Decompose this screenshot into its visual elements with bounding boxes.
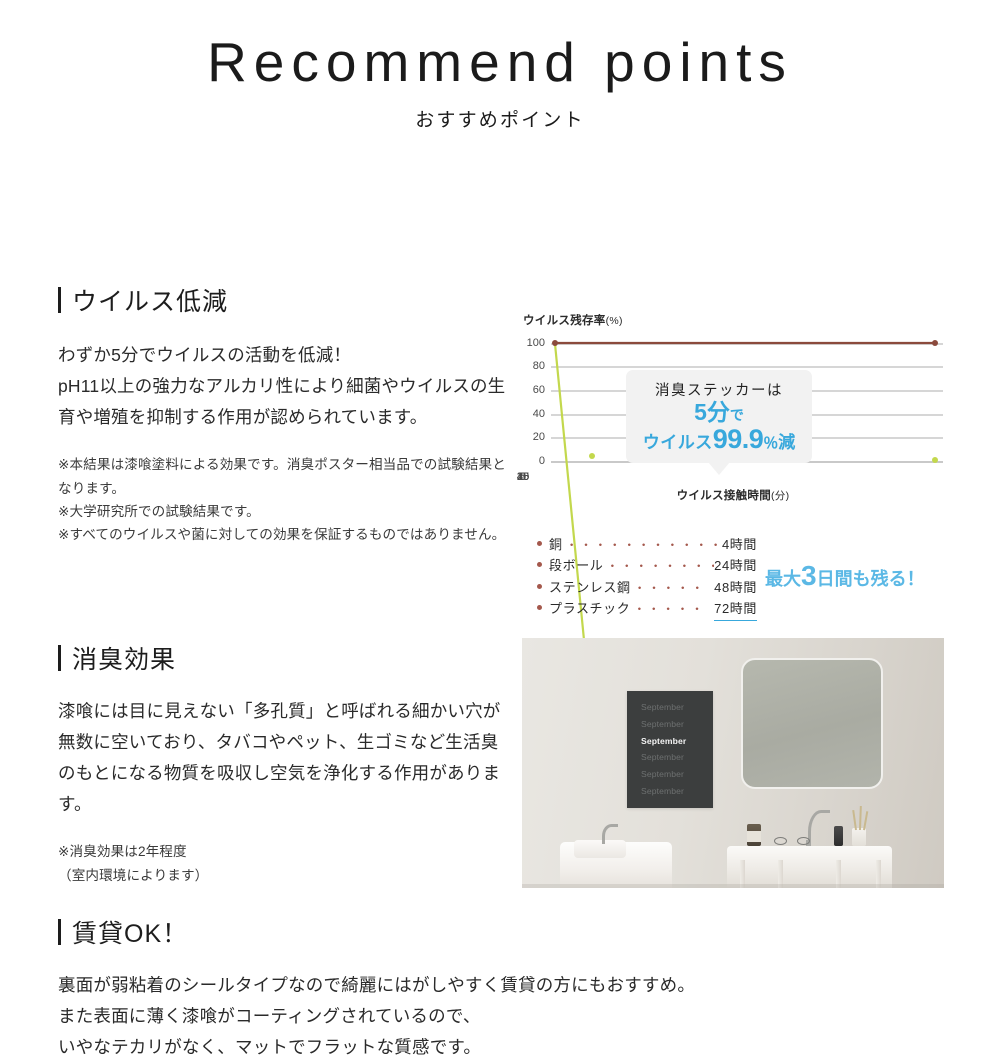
section-heading-rental-ok: 賃貸OK！ (58, 914, 938, 950)
section-heading-virus-reduction: ウイルス低減 (58, 282, 513, 318)
ytick-60: 60 (521, 384, 545, 396)
callout-line-2: 5分で (636, 401, 802, 424)
section-virus-reduction: ウイルス低減 わずか5分でウイルスの活動を低減！ pH11以上の強力なアルカリ性… (58, 282, 513, 547)
photo-toilet-basin (574, 840, 626, 858)
photo-bottle-dark (834, 826, 843, 846)
chart-y-axis-label-text: ウイルス残存率 (523, 315, 606, 327)
chart-callout-bubble: 消臭ステッカーは 5分で ウイルス99.9％減 (626, 370, 812, 463)
legend-item: プラスチック ・・・・・ 72時間 (537, 598, 757, 621)
callout-line-1: 消臭ステッカーは (636, 379, 802, 400)
section-rental-ok: 賃貸OK！ 裏面が弱粘着のシールタイプなので綺麗にはがしやすく賃貸の方にもおすす… (58, 914, 938, 1063)
callout-virus-label: ウイルス (643, 433, 713, 452)
photo-september-poster: September September September September … (627, 691, 713, 808)
note-item: ※大学研究所での試験結果です。 (58, 500, 513, 523)
callout-minutes-value: 5分 (694, 399, 730, 425)
note-item: （室内環境によります） (58, 864, 513, 887)
poster-line-active: September (641, 733, 686, 750)
legend-item: ステンレス鋼 ・・・・・ 48時間 (537, 577, 757, 598)
ytick-20: 20 (521, 431, 545, 443)
ytick-0: 0 (521, 455, 545, 467)
note-item: ※消臭効果は2年程度 (58, 840, 513, 863)
legend-leader-dots: ・・・・・・・・・・・ (563, 536, 722, 555)
poster-line: September (641, 749, 684, 766)
legend-leader-dots: ・・・・・ (631, 579, 715, 598)
photo-bottle-label (747, 831, 761, 842)
callout-percent-value: 99.9 (713, 424, 764, 454)
legend-item-value: 48時間 (714, 577, 757, 598)
section-body-rental-ok: 裏面が弱粘着のシールタイプなので綺麗にはがしやすく賃貸の方にもおすすめ。 また表… (58, 970, 938, 1063)
legend-item-value: 24時間 (714, 555, 757, 576)
surface-survival-legend: 銅 ・・・・・・・・・・・ 4時間 段ボール ・・・・・・・・ 24時間 ステン… (537, 534, 757, 621)
days-badge-prefix: 最大 (765, 569, 801, 589)
legend-item-name: ステンレス鋼 (549, 577, 631, 598)
page-header: Recommend points おすすめポイント (0, 0, 1000, 132)
legend-leader-dots: ・・・・・・・・ (603, 557, 714, 576)
poster-line: September (641, 716, 684, 733)
callout-minutes-suffix: で (730, 407, 744, 423)
note-item: ※本結果は漆喰塗料による効果です。消臭ポスター相当品での試験結果となります。 (58, 453, 513, 500)
page-subtitle: おすすめポイント (0, 105, 1000, 132)
section-notes-virus-reduction: ※本結果は漆喰塗料による効果です。消臭ポスター相当品での試験結果となります。 ※… (58, 453, 513, 547)
heading-bar-icon (58, 287, 61, 313)
bullet-dot-icon (537, 541, 542, 546)
callout-line-3: ウイルス99.9％減 (636, 426, 802, 453)
note-item: ※すべてのウイルスや菌に対しての効果を保証するものではありません。 (58, 523, 513, 546)
legend-item-value: 4時間 (722, 534, 757, 555)
legend-leader-dots: ・・・・・ (630, 600, 714, 619)
poster-line: September (641, 699, 684, 716)
ytick-100: 100 (521, 337, 545, 349)
callout-reduce-label: 減 (778, 433, 795, 452)
section-heading-label: ウイルス低減 (72, 282, 228, 318)
photo-mirror (741, 658, 883, 789)
legend-item-name: プラスチック (549, 598, 630, 619)
bullet-dot-icon (537, 562, 542, 567)
datapoint-control-start (552, 340, 558, 346)
section-notes-deodorizing: ※消臭効果は2年程度 （室内環境によります） (58, 840, 513, 887)
legend-item: 段ボール ・・・・・・・・ 24時間 (537, 555, 757, 576)
days-badge-number: 3 (801, 560, 817, 591)
max-days-badge: 最大3日間も残る！ (765, 560, 925, 592)
page-title: Recommend points (0, 34, 1000, 92)
photo-floor-line (522, 884, 944, 888)
section-heading-deodorizing: 消臭効果 (58, 640, 513, 676)
poster-line: September (641, 766, 684, 783)
chart-y-axis-label: ウイルス残存率(%) (523, 312, 943, 328)
callout-percent-sign: ％ (763, 435, 778, 452)
legend-item-name: 銅 (549, 534, 563, 555)
bathroom-photo: September September September September … (522, 638, 944, 888)
bullet-dot-icon (537, 605, 542, 610)
heading-bar-icon (58, 645, 61, 671)
legend-item-value: 72時間 (714, 598, 757, 621)
datapoint-sticker-end (932, 457, 938, 463)
section-deodorizing: 消臭効果 漆喰には目に見えない「多孔質」と呼ばれる細かい穴が無数に空いており、タ… (58, 640, 513, 887)
xtick-45: 45 (517, 471, 529, 483)
photo-faucet-small (602, 824, 618, 844)
legend-item-name: 段ボール (549, 555, 603, 576)
datapoint-sticker-5min (589, 453, 595, 459)
ytick-40: 40 (521, 408, 545, 420)
eyeglass-lens (797, 837, 810, 845)
datapoint-control-end (932, 340, 938, 346)
section-body-deodorizing: 漆喰には目に見えない「多孔質」と呼ばれる細かい穴が無数に空いており、タバコやペッ… (58, 696, 513, 821)
photo-reed-diffuser (852, 828, 866, 846)
section-heading-label: 消臭効果 (72, 640, 176, 676)
chart-y-axis-unit: (%) (606, 315, 623, 327)
section-body-virus-reduction: わずか5分でウイルスの活動を低減！ pH11以上の強力なアルカリ性により細菌やウ… (58, 340, 513, 433)
bullet-dot-icon (537, 584, 542, 589)
ytick-80: 80 (521, 360, 545, 372)
photo-eyeglasses (774, 836, 810, 845)
heading-bar-icon (58, 919, 61, 945)
legend-item: 銅 ・・・・・・・・・・・ 4時間 (537, 534, 757, 555)
poster-line: September (641, 783, 684, 800)
section-heading-label: 賃貸OK！ (72, 914, 188, 950)
photo-faucet-main (808, 810, 830, 846)
days-badge-suffix: 日間も残る！ (817, 569, 925, 589)
eyeglass-lens (774, 837, 787, 845)
